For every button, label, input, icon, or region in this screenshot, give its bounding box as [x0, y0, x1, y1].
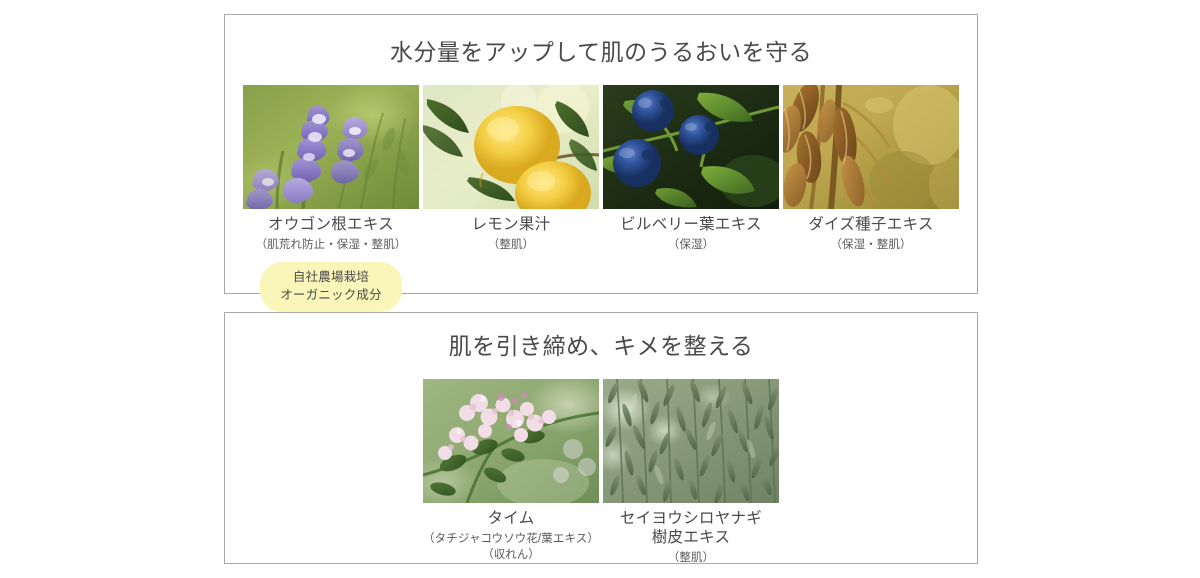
ingredient-card-thyme[interactable]: タイム （タチジャコウソウ花/葉エキス） （収れん） [423, 379, 599, 566]
ingredient-card-ougon[interactable]: オウゴン根エキス （肌荒れ防止・保湿・整肌） 自社農場栽培 オーガニック成分 [243, 85, 419, 312]
panel-firming-benefits: 肌を引き締め、キメを整える [224, 312, 978, 564]
ingredient-effect: （整肌） [668, 551, 714, 566]
ingredient-effect-secondary: （収れん） [482, 548, 540, 563]
panel-moisture-title: 水分量をアップして肌のうるおいを守る [225, 41, 977, 64]
ingredient-effect: （肌荒れ防止・保湿・整肌） [256, 238, 407, 253]
panel-firming-title: 肌を引き締め、キメを整える [225, 335, 977, 358]
ingredient-effect: （タチジャコウソウ花/葉エキス） [423, 532, 599, 547]
soybean-dried-pods-photo [783, 85, 959, 209]
ingredient-name: ダイズ種子エキス [808, 216, 933, 235]
ingredient-effect: （保湿・整肌） [830, 238, 911, 253]
ingredient-card-bilberry[interactable]: ビルベリー葉エキス （保湿） [603, 85, 779, 312]
badge-line-1: 自社農場栽培 [280, 269, 382, 287]
skullcap-purple-flowers-photo [243, 85, 419, 209]
ingredient-name: オウゴン根エキス [268, 216, 394, 235]
lemon-fruit-on-tree-photo [423, 85, 599, 209]
ingredient-row-moisture: オウゴン根エキス （肌荒れ防止・保湿・整肌） 自社農場栽培 オーガニック成分 [225, 85, 977, 312]
ingredient-effect: （整肌） [488, 238, 534, 253]
ingredient-name: セイヨウシロヤナギ 樹皮エキス [620, 510, 762, 548]
ingredient-name: レモン果汁 [471, 216, 550, 235]
bilberry-blueberries-photo [603, 85, 779, 209]
badge-line-2: オーガニック成分 [280, 287, 382, 305]
ingredient-name-line-2: 樹皮エキス [652, 529, 731, 546]
white-willow-leaves-photo [603, 379, 779, 503]
ingredient-card-soybean[interactable]: ダイズ種子エキス （保湿・整肌） [783, 85, 959, 312]
ingredient-card-willow[interactable]: セイヨウシロヤナギ 樹皮エキス （整肌） [603, 379, 779, 566]
ingredient-name: タイム [487, 510, 534, 529]
thyme-pink-flowers-photo [423, 379, 599, 503]
ingredient-name: ビルベリー葉エキス [620, 216, 762, 235]
panel-moisture-benefits: 水分量をアップして肌のうるおいを守る [224, 14, 978, 294]
ingredient-card-lemon[interactable]: レモン果汁 （整肌） [423, 85, 599, 312]
ingredient-name-line-1: セイヨウシロヤナギ [620, 510, 762, 527]
ingredient-effect: （保湿） [668, 238, 714, 253]
ingredient-row-firming: タイム （タチジャコウソウ花/葉エキス） （収れん） [225, 379, 977, 566]
organic-farm-badge: 自社農場栽培 オーガニック成分 [260, 262, 402, 313]
